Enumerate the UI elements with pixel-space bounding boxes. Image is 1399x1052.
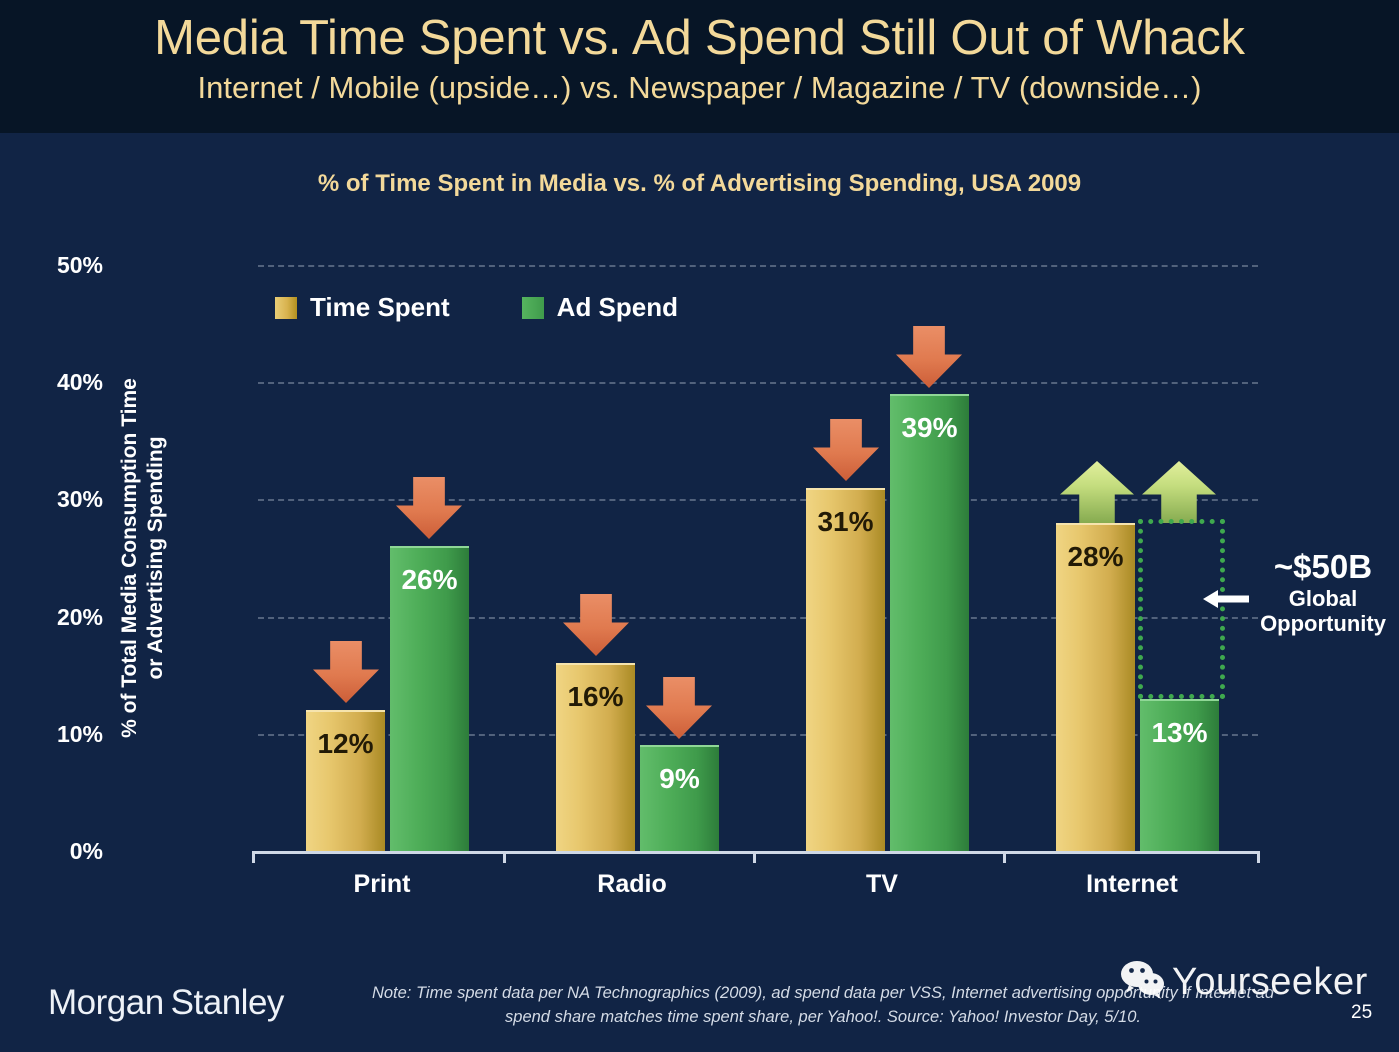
source-note-line2: spend share matches time spent share, pe…: [318, 1006, 1328, 1030]
x-axis-label-print: Print: [272, 870, 492, 899]
chart-title: % of Time Spent in Media vs. % of Advert…: [0, 170, 1399, 198]
y-axis-title-line2: or Advertising Spending: [143, 436, 169, 679]
bar-internet-ad-spend[interactable]: 13%: [1140, 699, 1219, 851]
axis-tick-1: [503, 851, 506, 863]
down-arrow-icon-print-ad: [396, 477, 462, 539]
axis-tick-3: [1003, 851, 1006, 863]
bar-radio-time-spent[interactable]: 16%: [556, 663, 635, 851]
bar-value-tv-ad-spend: 39%: [901, 412, 957, 444]
bar-radio-ad-spend[interactable]: 9%: [640, 745, 719, 851]
slide-title: Media Time Spent vs. Ad Spend Still Out …: [0, 10, 1399, 66]
x-axis-label-tv: TV: [772, 870, 992, 899]
plot-area: 50% 40% 30% 20% 10% 0% 12% 26% 16% 9%: [258, 265, 1258, 851]
page-number: 25: [1351, 1002, 1372, 1024]
legend-swatch-icon-time-spent: [275, 297, 297, 319]
y-tick-label-30: 30%: [23, 486, 103, 513]
bar-value-tv-time-spent: 31%: [817, 506, 873, 538]
callout-arrow-icon: [1203, 588, 1249, 610]
bar-group-radio: 16% 9%: [556, 265, 719, 851]
chart-legend: Time Spent Ad Spend: [275, 292, 678, 323]
bar-print-ad-spend[interactable]: 26%: [390, 546, 469, 851]
bar-value-radio-time-spent: 16%: [567, 681, 623, 713]
y-tick-label-0: 0%: [23, 838, 103, 865]
bar-value-print-time-spent: 12%: [317, 728, 373, 760]
slide: Media Time Spent vs. Ad Spend Still Out …: [0, 0, 1399, 1052]
bar-group-tv: 31% 39%: [806, 265, 969, 851]
legend-swatch-icon-ad-spend: [522, 297, 544, 319]
bar-value-internet-ad-spend: 13%: [1151, 717, 1207, 749]
callout-line2: Global: [1248, 586, 1398, 611]
bar-tv-time-spent[interactable]: 31%: [806, 488, 885, 851]
down-arrow-icon-radio-ad: [646, 677, 712, 739]
callout-line3: Opportunity: [1248, 611, 1398, 636]
down-arrow-icon-print-time: [313, 641, 379, 703]
bar-value-radio-ad-spend: 9%: [659, 763, 699, 795]
y-axis-title: % of Total Media Consumption Time or Adv…: [98, 265, 188, 851]
bar-value-print-ad-spend: 26%: [401, 564, 457, 596]
opportunity-callout: ~$50B Global Opportunity: [1248, 548, 1398, 637]
callout-amount: ~$50B: [1248, 548, 1398, 586]
bar-group-internet: 28% 13%: [1056, 265, 1219, 851]
legend-item-time-spent[interactable]: Time Spent: [275, 292, 450, 323]
bar-internet-time-spent[interactable]: 28%: [1056, 523, 1135, 851]
axis-baseline: [252, 851, 1260, 854]
brand-word-morgan: Morgan: [48, 983, 164, 1022]
morgan-stanley-logo: MorganStanley: [48, 983, 284, 1023]
y-tick-label-40: 40%: [23, 369, 103, 396]
y-axis-title-line1: % of Total Media Consumption Time: [117, 378, 143, 738]
axis-tick-2: [753, 851, 756, 863]
down-arrow-icon-radio-time: [563, 594, 629, 656]
x-axis-label-radio: Radio: [522, 870, 742, 899]
x-axis-label-internet: Internet: [1022, 870, 1242, 899]
up-arrow-icon-internet-time: [1060, 461, 1134, 523]
source-note-line1: Note: Time spent data per NA Technograph…: [372, 984, 1274, 1002]
y-tick-label-10: 10%: [23, 721, 103, 748]
bar-print-time-spent[interactable]: 12%: [306, 710, 385, 851]
down-arrow-icon-tv-time: [813, 419, 879, 481]
source-note: Note: Time spent data per NA Technograph…: [318, 982, 1328, 1030]
bar-group-print: 12% 26%: [306, 265, 469, 851]
bar-value-internet-time-spent: 28%: [1067, 541, 1123, 573]
legend-label-ad-spend: Ad Spend: [557, 292, 678, 323]
bar-tv-ad-spend[interactable]: 39%: [890, 394, 969, 851]
axis-tick-start: [252, 851, 255, 863]
down-arrow-icon-tv-ad: [896, 326, 962, 388]
axis-tick-4: [1257, 851, 1260, 863]
y-tick-label-20: 20%: [23, 604, 103, 631]
legend-label-time-spent: Time Spent: [310, 292, 450, 323]
slide-header: Media Time Spent vs. Ad Spend Still Out …: [0, 0, 1399, 133]
up-arrow-icon-internet-ad: [1142, 461, 1216, 523]
legend-item-ad-spend[interactable]: Ad Spend: [522, 292, 678, 323]
y-tick-label-50: 50%: [23, 252, 103, 279]
slide-subtitle: Internet / Mobile (upside…) vs. Newspape…: [0, 70, 1399, 106]
brand-word-stanley: Stanley: [171, 983, 284, 1022]
